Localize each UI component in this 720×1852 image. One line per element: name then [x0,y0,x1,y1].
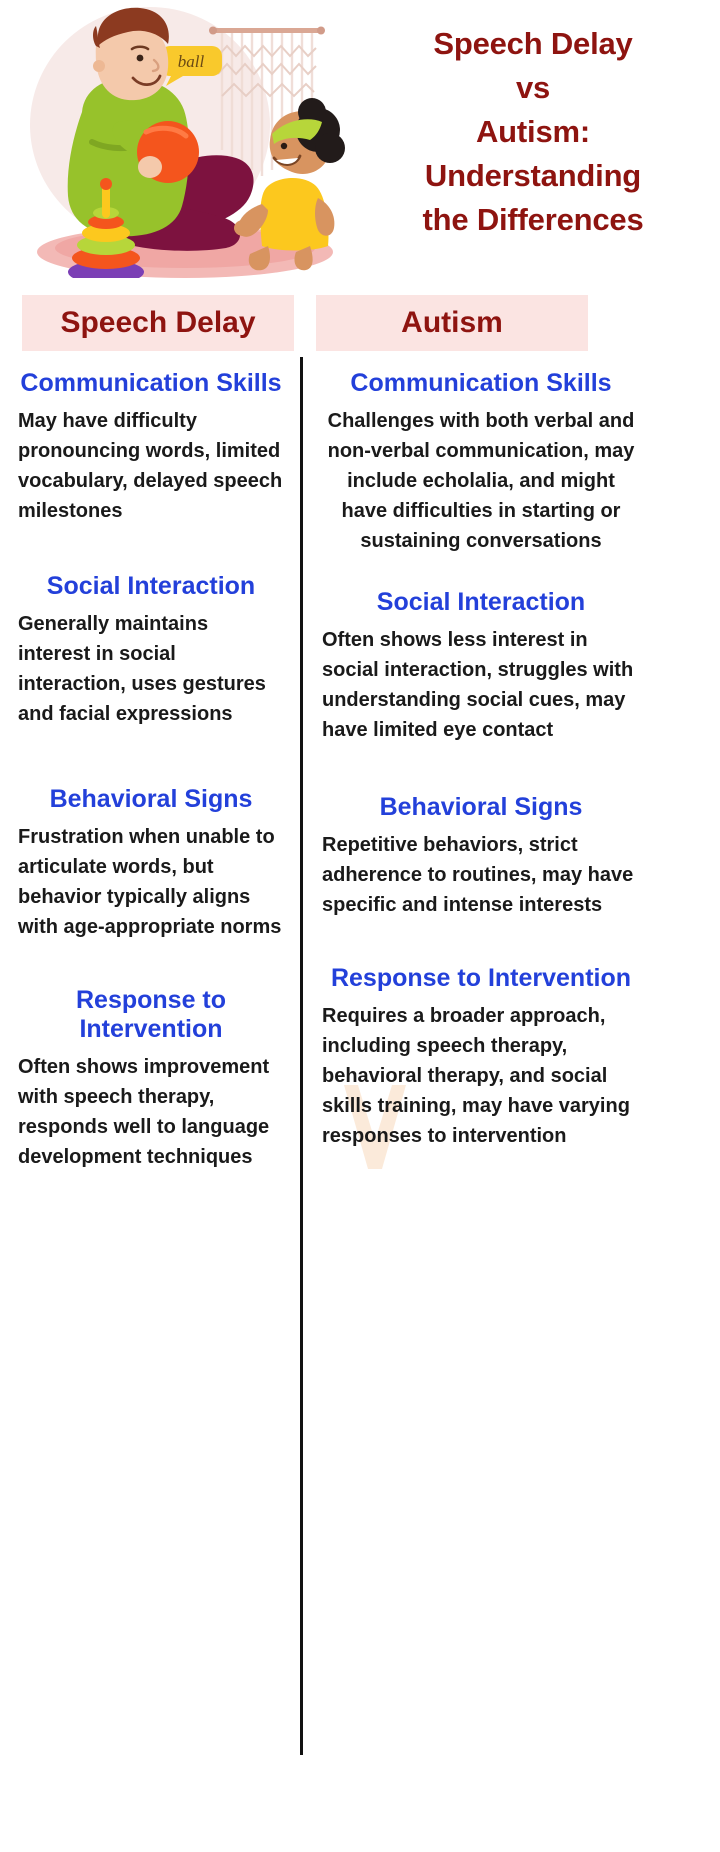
section-response-to-intervention-speech-delay: Response to Intervention Often shows imp… [18,986,284,1172]
section-body: Often shows less interest in social inte… [322,625,640,745]
section-heading: Social Interaction [18,572,284,601]
section-heading: Response to Intervention [18,986,284,1044]
column-speech-delay: Communication Skills May have difficulty… [0,357,300,1198]
section-body: Often shows improvement with speech ther… [18,1052,284,1172]
section-communication-skills-speech-delay: Communication Skills May have difficulty… [18,369,284,526]
section-heading: Behavioral Signs [322,793,640,822]
adult-and-toddler-playing-ball-illustration: ball [0,0,360,278]
section-behavioral-signs-speech-delay: Behavioral Signs Frustration when unable… [18,785,284,942]
svg-text:ball: ball [178,52,205,71]
title-line-2: vs [360,66,706,110]
section-response-to-intervention-autism: Response to Intervention Requires a broa… [322,964,640,1151]
section-body: Challenges with both verbal and non-verb… [322,406,640,556]
section-social-interaction-speech-delay: Social Interaction Generally maintains i… [18,572,284,729]
section-body: Generally maintains interest in social i… [18,609,284,729]
comparison-body: Communication Skills May have difficulty… [0,357,720,1198]
section-heading: Communication Skills [18,369,284,398]
title-line-5: the Differences [360,198,706,242]
section-heading: Behavioral Signs [18,785,284,814]
section-body: Repetitive behaviors, strict adherence t… [322,830,640,920]
hero-banner: ball [0,0,720,285]
column-header-autism: Autism [316,295,588,351]
section-heading: Response to Intervention [322,964,640,993]
comparison-column-headers: Speech Delay Autism [0,295,720,357]
column-autism: Communication Skills Challenges with bot… [300,357,720,1198]
section-body: May have difficulty pronouncing words, l… [18,406,284,526]
title-line-1: Speech Delay [360,22,706,66]
page-title: Speech Delay vs Autism: Understanding th… [360,0,720,242]
section-behavioral-signs-autism: Behavioral Signs Repetitive behaviors, s… [322,793,640,920]
section-social-interaction-autism: Social Interaction Often shows less inte… [322,588,640,745]
section-heading: Communication Skills [322,369,640,398]
section-communication-skills-autism: Communication Skills Challenges with bot… [322,369,640,556]
column-header-speech-delay: Speech Delay [22,295,294,351]
title-line-4: Understanding [360,154,706,198]
section-body: Frustration when unable to articulate wo… [18,822,284,942]
section-heading: Social Interaction [322,588,640,617]
title-line-3: Autism: [360,110,706,154]
section-body: Requires a broader approach, including s… [322,1001,640,1151]
